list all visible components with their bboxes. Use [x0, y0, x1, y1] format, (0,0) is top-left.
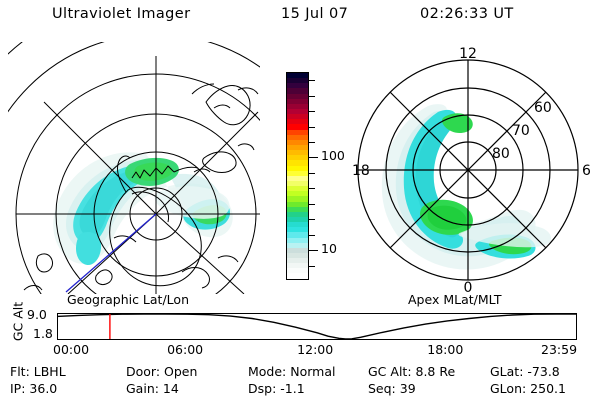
colorbar-gradient[interactable]	[286, 72, 309, 280]
colorbar-tick-minor	[309, 266, 315, 267]
orbit-x-tick-label: 23:59	[541, 342, 577, 357]
status-mode: Mode: Normal	[248, 364, 335, 379]
colorbar-tick-minor	[309, 80, 315, 81]
status-glon: GLon: 250.1	[490, 381, 566, 396]
mlat-label-70: 70	[512, 123, 530, 139]
geographic-plot-svg	[8, 42, 260, 294]
colorbar-group: photon cm-2s-1 10010	[262, 60, 342, 295]
colorbar-tick-10	[309, 250, 318, 251]
colorbar-tick-minor	[309, 142, 315, 143]
observation-date: 15 Jul 07	[281, 6, 348, 22]
status-ip: IP: 36.0	[10, 381, 57, 396]
orbit-x-tick-label: 12:00	[297, 342, 333, 357]
colorbar-band	[287, 273, 308, 278]
status-filter: Flt: LBHL	[10, 364, 66, 379]
colorbar-tick-minor	[309, 111, 315, 112]
colorbar-tick-minor	[309, 173, 315, 174]
mlt-label-18: 18	[352, 163, 370, 179]
colorbar-tick-minor	[309, 219, 315, 220]
orbit-y-tick-top: 9.0	[27, 307, 47, 322]
colorbar-tick-minor	[309, 204, 315, 205]
status-bar: Flt: LBHL IP: 36.0 Door: Open Gain: 14 M…	[0, 362, 600, 400]
status-gc-alt: GC Alt: 8.8 Re	[368, 364, 455, 379]
status-glat: GLat: -73.8	[490, 364, 560, 379]
status-dsp: Dsp: -1.1	[248, 381, 305, 396]
colorbar-tick-10-label: 10	[321, 243, 337, 256]
status-seq: Seq: 39	[368, 381, 416, 396]
orbit-y-axis-label: GC Alt	[11, 294, 26, 350]
colorbar-tick-minor	[309, 96, 315, 97]
status-door: Door: Open	[126, 364, 197, 379]
mlat-mlt-grid	[358, 60, 578, 280]
colorbar-tick-100	[309, 157, 318, 158]
mlat-label-60: 60	[534, 100, 552, 116]
colorbar-tick-minor	[309, 188, 315, 189]
apex-panel-caption: Apex MLat/MLT	[408, 292, 502, 307]
colorbar-tick-minor	[309, 235, 315, 236]
apex-polar-plot[interactable]: 12 6 0 18 60 70 80	[342, 42, 594, 294]
page-title: Ultraviolet Imager	[52, 6, 190, 22]
orbit-altitude-plot[interactable]: Geographic Lat/Lon Apex MLat/MLT GC Alt …	[0, 292, 600, 354]
geographic-polar-plot[interactable]	[8, 42, 260, 294]
orbit-x-tick-label: 06:00	[167, 342, 203, 357]
ultraviolet-imager-window: Ultraviolet Imager 15 Jul 07 02:26:33 UT	[0, 0, 600, 400]
header-bar: Ultraviolet Imager 15 Jul 07 02:26:33 UT	[0, 6, 600, 28]
orbit-plot-frame	[58, 314, 577, 340]
orbit-x-tick-label: 00:00	[53, 342, 89, 357]
orbit-x-tick-label: 18:00	[427, 342, 463, 357]
orbit-y-tick-bottom: 1.8	[33, 326, 53, 341]
orbit-plot-svg	[57, 313, 577, 340]
apex-plot-svg: 12 6 0 18 60 70 80	[342, 42, 594, 294]
observation-time: 02:26:33 UT	[420, 6, 514, 22]
mlt-label-12: 12	[459, 46, 477, 62]
colorbar-tick-minor	[309, 127, 315, 128]
mlat-label-80: 80	[492, 146, 510, 162]
status-gain: Gain: 14	[126, 381, 179, 396]
mlt-label-6: 6	[582, 163, 591, 179]
geographic-panel-caption: Geographic Lat/Lon	[67, 292, 189, 307]
